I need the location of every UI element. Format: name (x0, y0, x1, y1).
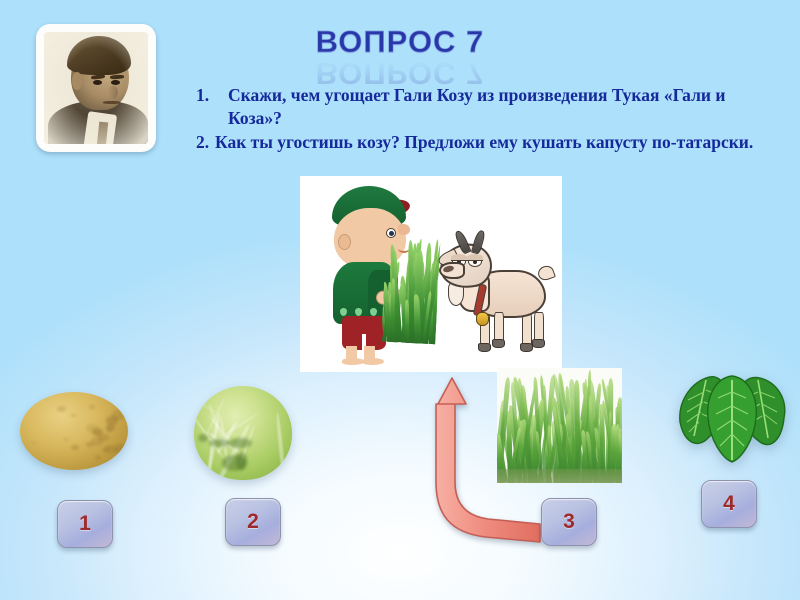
question-text-2: Как ты угостишь козу? Предложи ему кушат… (215, 131, 766, 154)
goat-eyelid-right (467, 254, 483, 261)
portrait-vignette (44, 32, 148, 144)
option-image-spinach (672, 362, 792, 466)
goat-bell-icon (476, 312, 489, 326)
option-image-potato (20, 392, 128, 470)
potato-speckle (28, 400, 31, 402)
goat-hoof-4 (532, 339, 545, 348)
answer-button-2[interactable]: 2 (225, 498, 281, 546)
goat-leg-front-near (494, 312, 504, 342)
potato-speckle (95, 431, 101, 435)
boy-shorts (342, 316, 386, 350)
potato-speckle (106, 424, 115, 431)
potato-speckle (71, 414, 76, 418)
potato-speckle (64, 438, 68, 441)
cabbage-vein (194, 398, 218, 414)
cabbage-vein (276, 412, 287, 480)
cabbage-shadow (198, 434, 208, 442)
potato-speckle (89, 405, 95, 409)
question-number-1: 1. (196, 84, 228, 130)
option-image-cabbage (194, 386, 292, 480)
question-item-2: 2. Как ты угостишь козу? Предложи ему ку… (196, 131, 766, 154)
goat-hoof-2 (492, 339, 505, 348)
cabbage-shadow (228, 438, 251, 448)
pointer-arrow (404, 362, 564, 552)
potato-speckle (86, 442, 92, 446)
potato-speckle (71, 445, 78, 450)
answer-button-2-label: 2 (247, 510, 259, 534)
goat-leg-rear-near (534, 312, 544, 342)
question-item-1: 1. Скажи, чем угощает Гали Козу из произ… (196, 84, 766, 130)
question-number-2: 2. (196, 131, 215, 154)
boy-foot-left (342, 358, 364, 365)
answer-button-3[interactable]: 3 (541, 498, 597, 546)
goat-hoof-1 (478, 343, 491, 352)
poet-portrait-frame (36, 24, 156, 152)
answer-button-1-label: 1 (79, 512, 91, 536)
boy-ear (338, 234, 351, 250)
spinach-leaf-center (708, 376, 757, 462)
goat-eyelid-left (451, 254, 467, 261)
answer-button-4[interactable]: 4 (701, 480, 757, 528)
grass-bundle (381, 229, 441, 345)
question-list: 1. Скажи, чем угощает Гали Козу из произ… (196, 84, 766, 154)
question-text-1: Скажи, чем угощает Гали Козу из произвед… (228, 84, 766, 130)
goat-character (438, 228, 558, 356)
answer-button-3-label: 3 (563, 510, 575, 534)
answer-button-4-label: 4 (723, 492, 735, 516)
grass-blade (408, 240, 414, 343)
potato-speckle (32, 442, 36, 445)
answer-button-1[interactable]: 1 (57, 500, 113, 548)
potato-speckle (95, 456, 101, 460)
cabbage-shadow (236, 452, 247, 471)
boy-foot-right (362, 358, 384, 365)
potato-speckle (57, 406, 66, 412)
slide-canvas: ВОПРОС 7 ВОПРОС 7 1. Скажи, чем угощает … (0, 0, 800, 600)
poet-portrait-photo (44, 32, 148, 144)
